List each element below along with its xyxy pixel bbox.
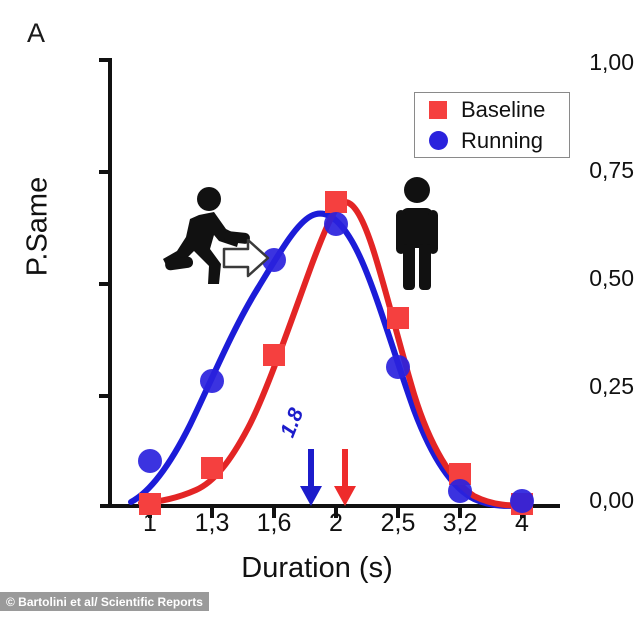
data-marker-baseline (201, 457, 223, 479)
data-marker-running (200, 369, 224, 393)
data-marker-running (448, 479, 472, 503)
legend-swatch-circle-icon (415, 131, 461, 150)
data-marker-running (324, 212, 348, 236)
data-marker-running (138, 449, 162, 473)
legend-item-running: Running (415, 126, 571, 155)
running-person-icon (163, 187, 250, 284)
pse-running-arrow-icon (300, 449, 322, 506)
data-marker-running (386, 355, 410, 379)
legend: Baseline Running (414, 92, 570, 158)
standing-person-icon (396, 177, 438, 290)
figure-panel-a: A P.Same Duration (s) 1,00 0,75 0,50 0,2… (0, 0, 634, 617)
legend-item-baseline: Baseline (415, 95, 571, 124)
pse-baseline-arrow-icon (334, 449, 356, 506)
legend-label: Running (461, 128, 543, 154)
legend-label: Baseline (461, 97, 545, 123)
credit-watermark: © Bartolini et al/ Scientific Reports (0, 592, 209, 611)
data-marker-baseline (325, 191, 347, 213)
data-marker-baseline (263, 344, 285, 366)
right-block-arrow-icon (224, 240, 268, 276)
data-marker-baseline (139, 493, 161, 515)
data-marker-baseline (387, 307, 409, 329)
running-fit-curve (131, 214, 528, 506)
legend-swatch-square-icon (415, 101, 461, 119)
data-marker-running (510, 489, 534, 513)
